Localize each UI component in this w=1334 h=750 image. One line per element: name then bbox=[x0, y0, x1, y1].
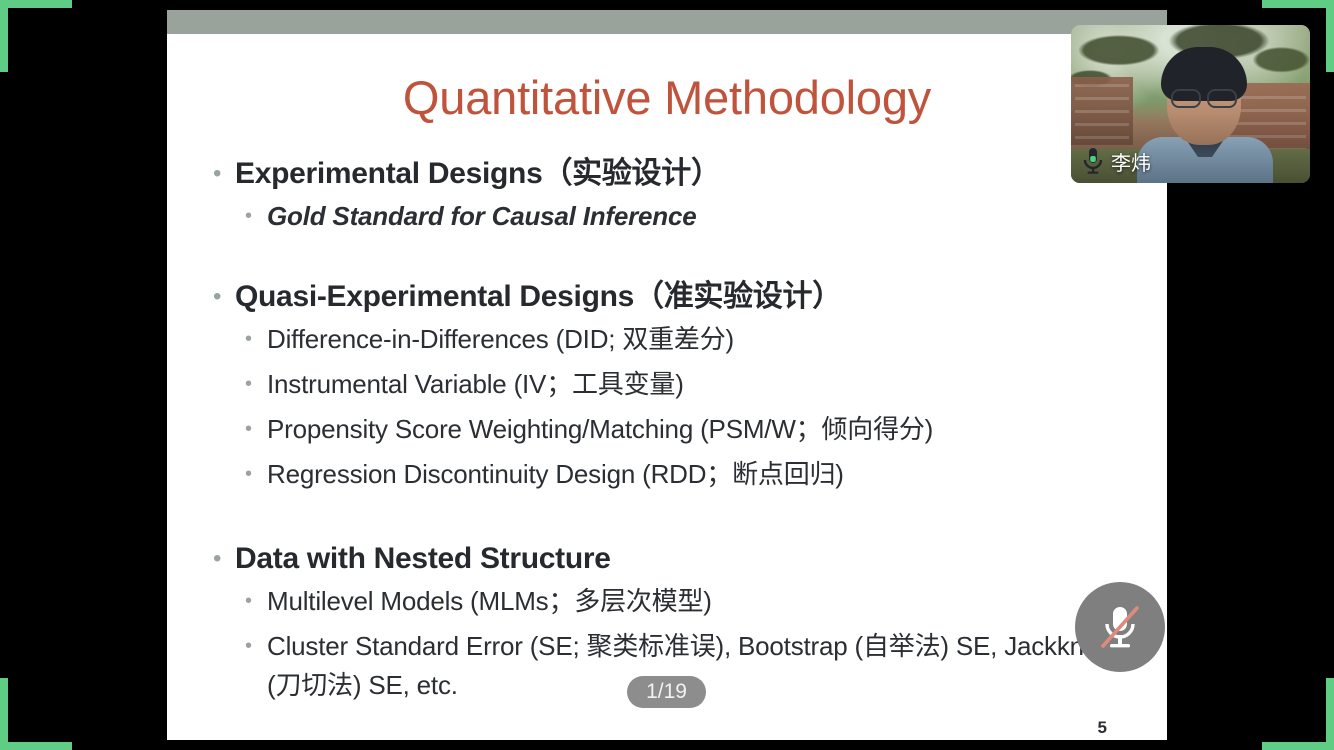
bullet-icon: • bbox=[245, 197, 267, 235]
participant-video-tile[interactable]: 李炜 bbox=[1071, 25, 1310, 183]
bullet-icon: • bbox=[245, 582, 267, 620]
list-item: • Instrumental Variable (IV；工具变量) bbox=[213, 365, 1143, 404]
bullet-icon: • bbox=[213, 278, 235, 316]
frame-mask-left bbox=[0, 72, 10, 678]
list-item-label: Difference-in-Differences (DID; 双重差分) bbox=[267, 320, 734, 359]
list-item-label: Multilevel Models (MLMs；多层次模型) bbox=[267, 582, 712, 621]
frame-mask-right bbox=[1324, 72, 1334, 678]
list-item: • Multilevel Models (MLMs；多层次模型) bbox=[213, 582, 1143, 621]
slide-body: • Experimental Designs（实验设计） • Gold Stan… bbox=[213, 155, 1143, 711]
section-heading-quasi-experimental-designs: • Quasi-Experimental Designs（准实验设计） bbox=[213, 278, 1143, 316]
list-item: • Propensity Score Weighting/Matching (P… bbox=[213, 410, 1143, 449]
list-item-label: Regression Discontinuity Design (RDD；断点回… bbox=[267, 455, 844, 494]
page-indicator: 1/19 bbox=[627, 676, 706, 708]
list-item-label: Propensity Score Weighting/Matching (PSM… bbox=[267, 410, 933, 449]
spacer bbox=[213, 242, 1143, 278]
shared-slide[interactable]: Quantitative Methodology • Experimental … bbox=[167, 0, 1167, 750]
bullet-icon: • bbox=[245, 410, 267, 448]
slide-number: 5 bbox=[1098, 718, 1107, 738]
microphone-muted-icon bbox=[1097, 602, 1143, 652]
list-item: • Regression Discontinuity Design (RDD；断… bbox=[213, 455, 1143, 494]
bullet-icon: • bbox=[213, 155, 235, 193]
participant-name: 李炜 bbox=[1111, 147, 1151, 176]
participant-name-badge: 李炜 bbox=[1080, 146, 1151, 176]
bullet-icon: • bbox=[245, 365, 267, 403]
list-item-label: Instrumental Variable (IV；工具变量) bbox=[267, 365, 684, 404]
microphone-icon bbox=[1080, 146, 1106, 176]
bullet-icon: • bbox=[245, 320, 267, 358]
bullet-icon: • bbox=[245, 455, 267, 493]
section-heading-experimental-designs: • Experimental Designs（实验设计） bbox=[213, 155, 1143, 193]
section-heading-label: Experimental Designs（实验设计） bbox=[235, 155, 721, 193]
list-item-label: Gold Standard for Causal Inference bbox=[267, 197, 697, 236]
spacer bbox=[213, 500, 1143, 540]
list-item: • Gold Standard for Causal Inference bbox=[213, 197, 1143, 236]
section-heading-label: Quasi-Experimental Designs（准实验设计） bbox=[235, 278, 842, 316]
slide-top-band bbox=[167, 0, 1167, 34]
mute-button[interactable] bbox=[1075, 582, 1165, 672]
section-heading-label: Data with Nested Structure bbox=[235, 540, 611, 578]
section-heading-data-nested-structure: • Data with Nested Structure bbox=[213, 540, 1143, 578]
bullet-icon: • bbox=[213, 540, 235, 578]
bullet-icon: • bbox=[245, 627, 267, 665]
list-item: • Difference-in-Differences (DID; 双重差分) bbox=[213, 320, 1143, 359]
page-title: Quantitative Methodology bbox=[167, 70, 1167, 125]
meeting-stage: Quantitative Methodology • Experimental … bbox=[0, 0, 1334, 750]
